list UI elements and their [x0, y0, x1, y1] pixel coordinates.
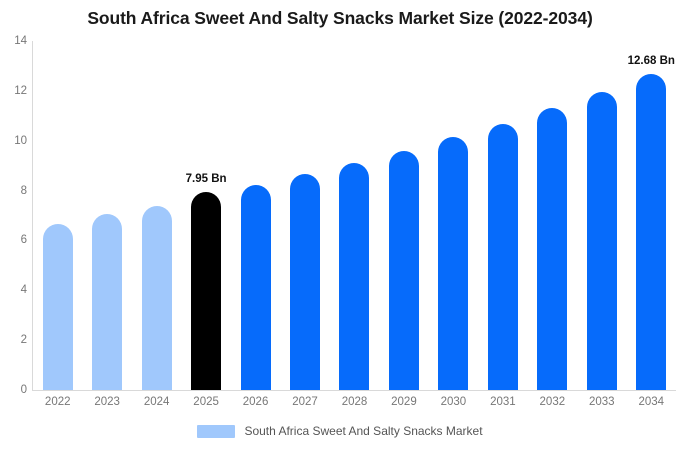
x-axis-tick-label-2025: 2025 — [181, 396, 230, 408]
y-axis-tick-label: 12 — [3, 85, 27, 97]
y-axis-tick-label: 10 — [3, 135, 27, 147]
bar-2030[interactable] — [438, 137, 468, 390]
x-axis-tick-label-2023: 2023 — [82, 396, 131, 408]
bar-2027[interactable] — [290, 174, 320, 390]
x-axis-tick-label-2024: 2024 — [132, 396, 181, 408]
y-axis-tick-label: 4 — [3, 284, 27, 296]
bar-group-2029[interactable] — [379, 41, 428, 390]
bar-group-2033[interactable] — [577, 41, 626, 390]
legend-swatch-south-africa-sweet-and-salty-snacks-market — [197, 425, 235, 438]
y-axis-tick-label: 8 — [3, 185, 27, 197]
bar-group-2032[interactable] — [528, 41, 577, 390]
chart-title: South Africa Sweet And Salty Snacks Mark… — [0, 8, 680, 29]
bar-2032[interactable] — [537, 108, 567, 390]
y-axis-tick-label: 6 — [3, 234, 27, 246]
bar-2033[interactable] — [587, 92, 617, 390]
bar-2022[interactable] — [43, 224, 73, 390]
bar-value-label-2034: 12.68 Bn — [628, 55, 675, 67]
bar-group-2030[interactable] — [429, 41, 478, 390]
x-axis-tick-label-2034: 2034 — [627, 396, 676, 408]
bar-2028[interactable] — [339, 163, 369, 390]
x-axis-tick-label-2029: 2029 — [379, 396, 428, 408]
x-axis-tick-label-2027: 2027 — [280, 396, 329, 408]
bar-group-2031[interactable] — [478, 41, 527, 390]
y-axis-tick-label: 2 — [3, 334, 27, 346]
bar-2026[interactable] — [241, 185, 271, 390]
bar-group-2027[interactable] — [280, 41, 329, 390]
y-axis-tick-labels: 02468101214 — [0, 0, 27, 450]
chart-container: South Africa Sweet And Salty Snacks Mark… — [0, 0, 680, 450]
bar-value-label-2025: 7.95 Bn — [186, 173, 227, 185]
bar-group-2026[interactable] — [231, 41, 280, 390]
x-axis-tick-label-2030: 2030 — [429, 396, 478, 408]
x-axis-tick-label-2032: 2032 — [528, 396, 577, 408]
bar-group-2024[interactable] — [132, 41, 181, 390]
x-axis-tick-label-2033: 2033 — [577, 396, 626, 408]
bar-group-2025[interactable]: 7.95 Bn — [181, 41, 230, 390]
bar-2031[interactable] — [488, 124, 518, 390]
y-axis-tick-label: 0 — [3, 384, 27, 396]
x-axis-tick-label-2026: 2026 — [231, 396, 280, 408]
bar-2025[interactable] — [191, 192, 221, 390]
legend-label-south-africa-sweet-and-salty-snacks-market: South Africa Sweet And Salty Snacks Mark… — [244, 424, 482, 438]
bars-layer: 7.95 Bn12.68 Bn — [33, 41, 676, 390]
x-axis-line — [32, 390, 676, 391]
bar-2024[interactable] — [142, 206, 172, 390]
bar-2029[interactable] — [389, 151, 419, 390]
bar-group-2022[interactable] — [33, 41, 82, 390]
chart-legend: South Africa Sweet And Salty Snacks Mark… — [0, 424, 680, 438]
bar-2034[interactable] — [636, 74, 666, 390]
x-axis-tick-label-2028: 2028 — [330, 396, 379, 408]
y-axis-tick-label: 14 — [3, 35, 27, 47]
bar-2023[interactable] — [92, 214, 122, 390]
bar-group-2034[interactable]: 12.68 Bn — [627, 41, 676, 390]
x-axis-tick-label-2031: 2031 — [478, 396, 527, 408]
bar-group-2023[interactable] — [82, 41, 131, 390]
bar-group-2028[interactable] — [330, 41, 379, 390]
x-axis-tick-label-2022: 2022 — [33, 396, 82, 408]
